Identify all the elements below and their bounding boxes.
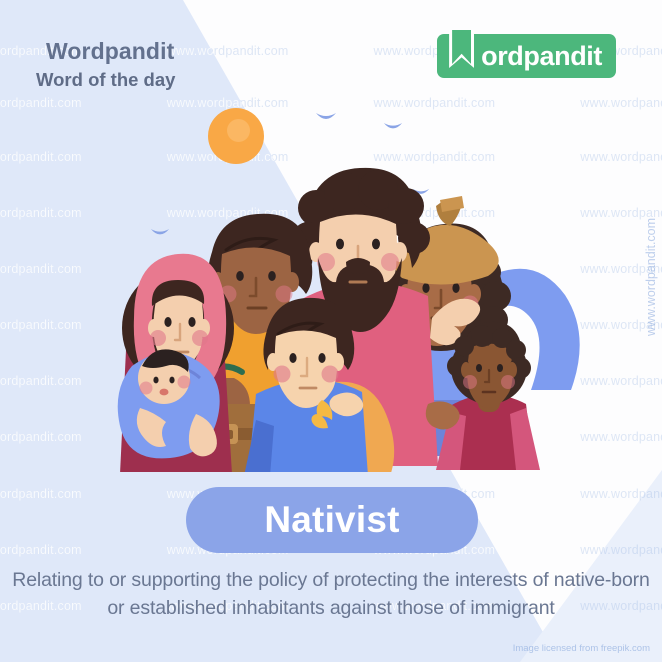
logo-text: ordpandit xyxy=(481,43,602,70)
wordpandit-logo[interactable]: ordpandit xyxy=(437,34,616,78)
logo-box: ordpandit xyxy=(437,34,616,78)
page-title: Wordpandit xyxy=(46,38,174,65)
word-definition: Relating to or supporting the policy of … xyxy=(12,566,650,622)
image-credit: Image licensed from freepik.com xyxy=(513,643,650,654)
word-of-the-day-card: www.wordpandit.com www.wordpandit.com ww… xyxy=(0,0,662,662)
word-term: Nativist xyxy=(264,499,399,541)
bookmark-w-icon xyxy=(449,30,474,68)
page-subtitle: Word of the day xyxy=(36,69,175,91)
word-pill[interactable]: Nativist xyxy=(186,487,478,553)
